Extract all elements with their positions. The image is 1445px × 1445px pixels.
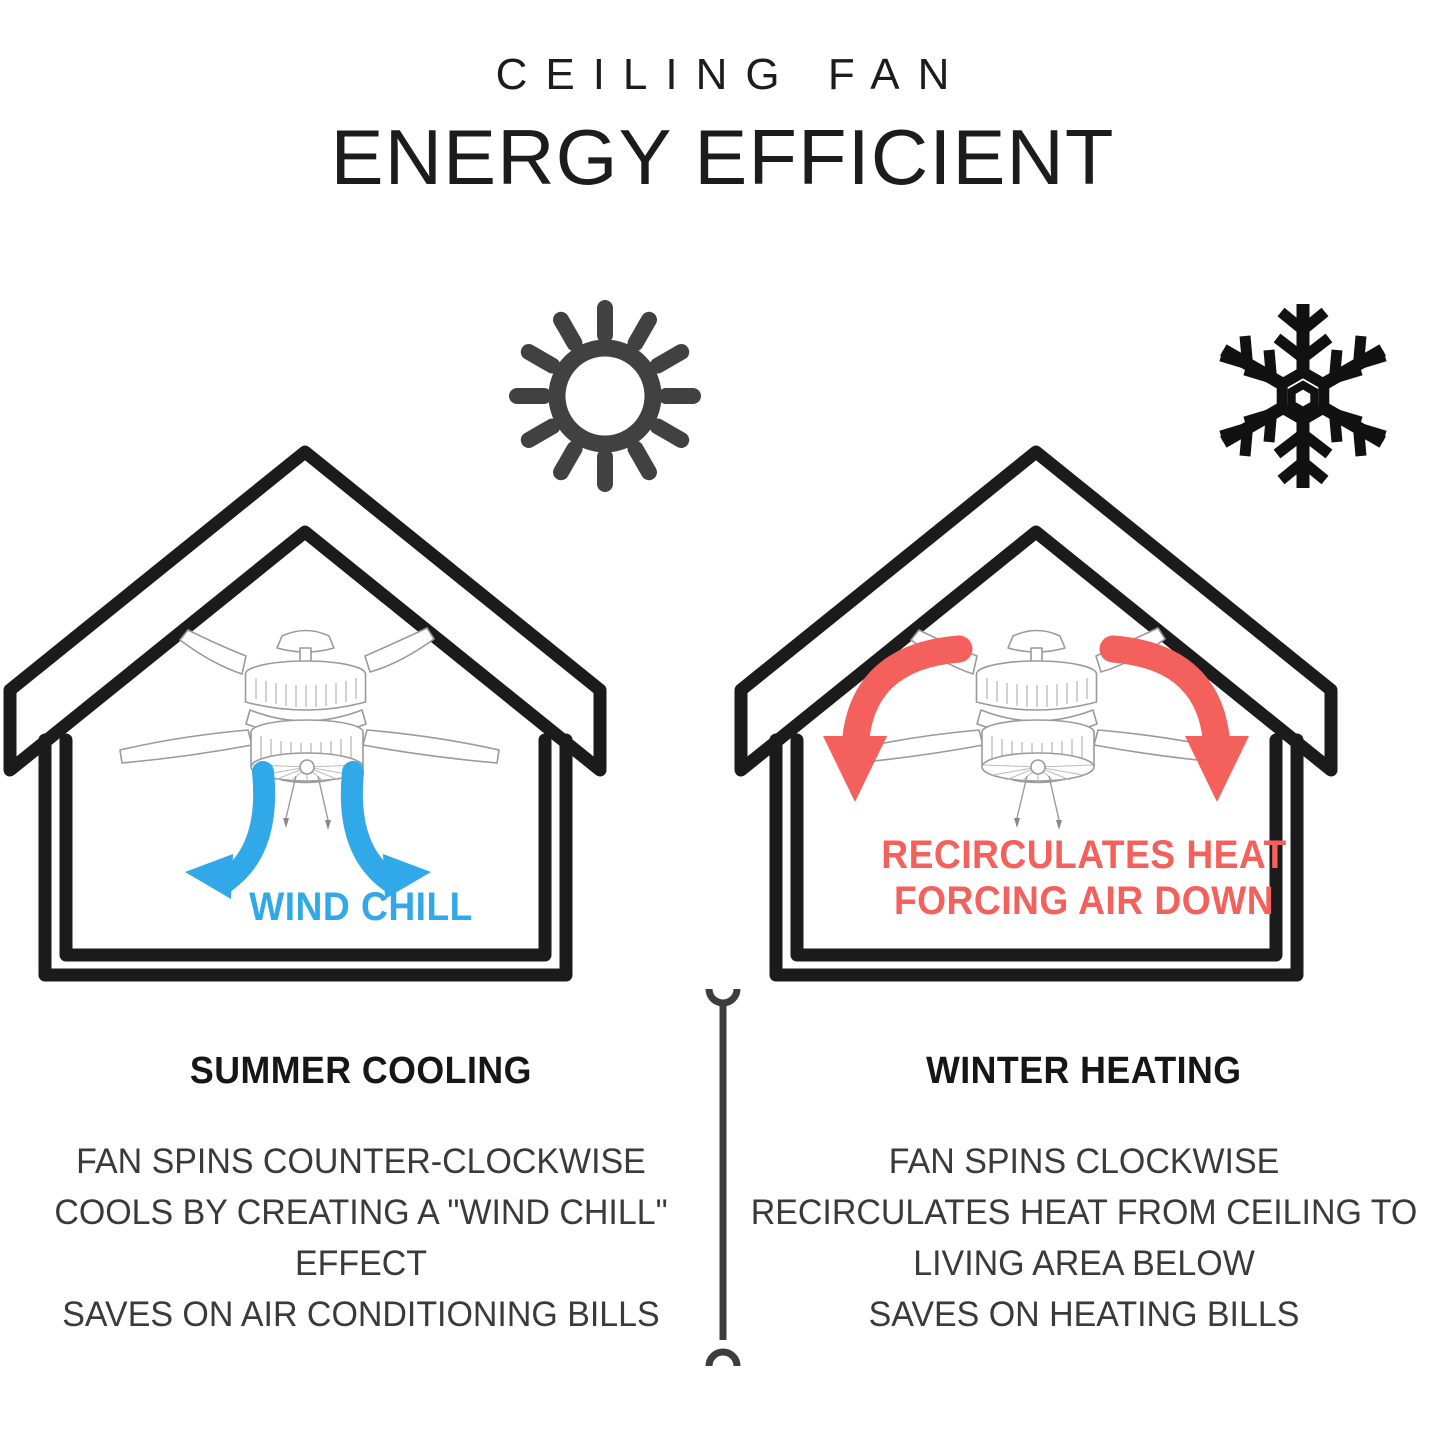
section-body-summer: FAN SPINS COUNTER-CLOCKWISE COOLS BY CRE… [0, 1136, 722, 1340]
infographic-page: CEILING FAN ENERGY EFFICIENT [0, 0, 1445, 1445]
body-line: COOLS BY CREATING A "WIND CHILL" [11, 1187, 711, 1238]
body-line: LIVING AREA BELOW [734, 1238, 1434, 1289]
column-summer: WIND CHILL SUMMER COOLING FAN SPINS COUN… [0, 0, 722, 1445]
scene-label-line: RECIRCULATES HEAT [748, 833, 1419, 879]
scene-label-line: FORCING AIR DOWN [748, 879, 1419, 925]
body-line: EFFECT [11, 1238, 711, 1289]
scene-label-line: WIND CHILL [25, 885, 696, 931]
airflow-arrow-right-red [1113, 649, 1249, 802]
section-heading-summer: SUMMER COOLING [0, 1050, 722, 1093]
body-line: SAVES ON HEATING BILLS [734, 1289, 1434, 1340]
ceiling-fan-illustration [120, 628, 499, 830]
body-line: SAVES ON AIR CONDITIONING BILLS [11, 1289, 711, 1340]
airflow-arrow-left-red [823, 649, 959, 802]
airflow-arrow-left-blue [185, 772, 264, 899]
section-body-winter: FAN SPINS CLOCKWISE RECIRCULATES HEAT FR… [723, 1136, 1445, 1340]
body-line: FAN SPINS COUNTER-CLOCKWISE [11, 1136, 711, 1187]
section-heading-winter: WINTER HEATING [723, 1050, 1445, 1093]
scene-label-recirculates-heat: RECIRCULATES HEAT FORCING AIR DOWN [723, 833, 1445, 924]
airflow-arrow-right-blue [352, 772, 431, 899]
pull-chain-divider [699, 985, 747, 1370]
scene-label-wind-chill: WIND CHILL [0, 885, 722, 931]
body-line: RECIRCULATES HEAT FROM CEILING TO [734, 1187, 1434, 1238]
body-line: FAN SPINS CLOCKWISE [734, 1136, 1434, 1187]
column-winter: RECIRCULATES HEAT FORCING AIR DOWN WINTE… [723, 0, 1445, 1445]
